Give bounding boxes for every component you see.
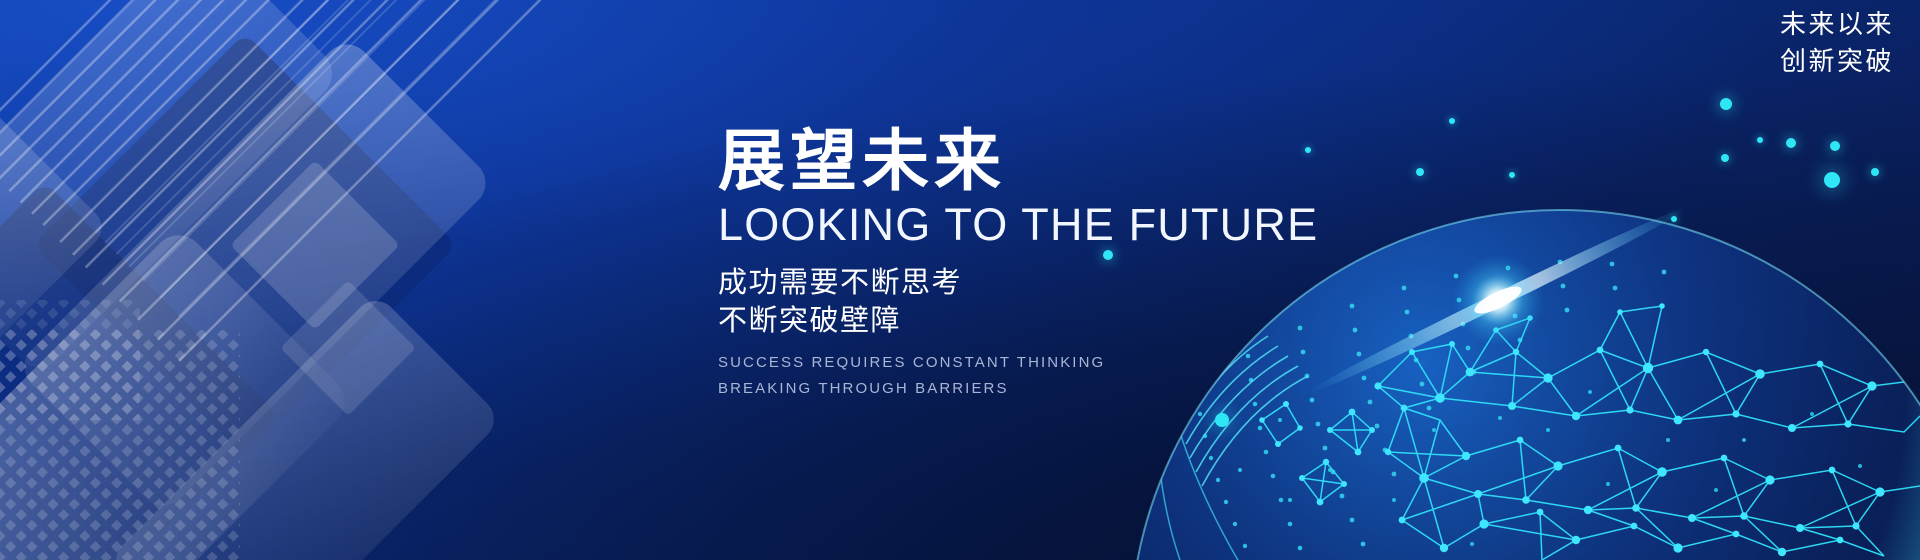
shape-sheet-group [0, 0, 503, 560]
floating-dot [1824, 172, 1840, 188]
corner-slogan: 未来以来 创新突破 [1780, 6, 1894, 80]
floating-dot [1830, 141, 1840, 151]
floating-dot [1871, 168, 1879, 176]
subtitle-cn-line-2: 不断突破壁障 [718, 302, 1478, 341]
floating-dot [1215, 413, 1229, 427]
subtitle-en-block: SUCCESS REQUIRES CONSTANT THINKING BREAK… [718, 350, 1478, 402]
corner-slogan-line-1: 未来以来 [1780, 6, 1894, 43]
left-geometric-artwork [0, 0, 760, 560]
shape-dark-diamond [0, 33, 457, 560]
floating-dot [1509, 172, 1515, 178]
floating-dot [1721, 154, 1729, 162]
corner-slogan-line-2: 创新突破 [1780, 43, 1894, 80]
checker-dot-grid [0, 300, 240, 560]
diagonal-stripe-bundle-2 [94, 0, 674, 317]
subtitle-cn-block: 成功需要不断思考 不断突破壁障 [718, 264, 1478, 341]
page-title-cn: 展望未来 [718, 128, 1478, 195]
headline-block: 展望未来 LOOKING TO THE FUTURE 成功需要不断思考 不断突破… [718, 128, 1478, 401]
subtitle-en-line-1: SUCCESS REQUIRES CONSTANT THINKING [718, 350, 1478, 376]
subtitle-en-line-2: BREAKING THROUGH BARRIERS [718, 376, 1478, 402]
globe-meridian-lines [1160, 420, 1250, 560]
promotional-banner: 展望未来 LOOKING TO THE FUTURE 成功需要不断思考 不断突破… [0, 0, 1920, 560]
diagonal-stripe-bundle [0, 0, 731, 362]
floating-dot [1786, 138, 1796, 148]
floating-dot [1757, 137, 1763, 143]
floating-dot [1449, 118, 1455, 124]
subtitle-cn-line-1: 成功需要不断思考 [718, 264, 1478, 303]
left-pattern-svg [0, 0, 760, 560]
floating-dot [1720, 98, 1732, 110]
shape-accent-diamond [230, 160, 416, 416]
page-title-en: LOOKING TO THE FUTURE [718, 201, 1478, 250]
floating-dot [1671, 216, 1677, 222]
globe-speck-dots [1392, 390, 1862, 546]
